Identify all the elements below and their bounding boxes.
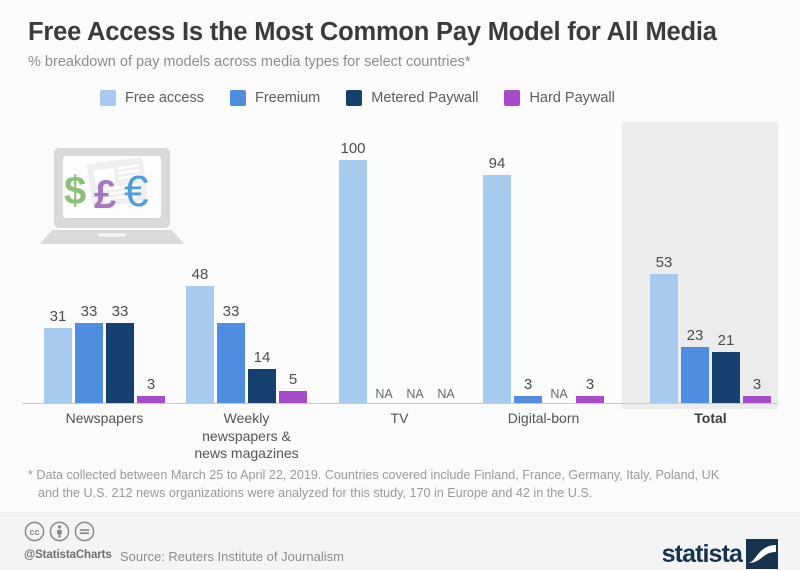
page-subtitle: % breakdown of pay models across media t… (28, 54, 780, 71)
category-label-line: Total (621, 410, 800, 428)
bar-slot[interactable]: 33 (106, 118, 134, 403)
footnote-line-2: and the U.S. 212 news organizations were… (28, 484, 773, 502)
bar-value-label: 5 (263, 372, 323, 387)
creative-commons-icon: cc (24, 521, 45, 547)
bar-rect[interactable] (75, 323, 103, 403)
bar-value-label: 3 (560, 377, 620, 392)
category-label-line: Digital-born (454, 410, 634, 428)
bar-rect[interactable] (576, 396, 604, 403)
bar-value-na: NA (416, 388, 476, 401)
x-axis-category-label: Digital-born (454, 410, 634, 428)
legend-item-0[interactable]: Free access (100, 90, 204, 106)
bar-rect[interactable] (483, 175, 511, 403)
bar-group-bars: 3133333 (44, 118, 165, 403)
page-title: Free Access Is the Most Common Pay Model… (28, 18, 780, 47)
bar-group-bars: 943NA3 (483, 118, 604, 403)
bar-slot[interactable]: 5 (279, 118, 307, 403)
no-derivatives-icon (74, 521, 95, 547)
bar-group-4: 5323213Total (650, 118, 771, 403)
bar-slot[interactable]: 21 (712, 118, 740, 403)
bar-slot[interactable]: NA (370, 118, 398, 403)
chart-legend: Free accessFreemiumMetered PaywallHard P… (100, 90, 615, 106)
chart-plot-area: $ £ € 3133333Newspapers4833145Weeklynews… (0, 118, 800, 458)
legend-swatch-icon (504, 90, 520, 106)
bar-slot[interactable]: 23 (681, 118, 709, 403)
bar-rect[interactable] (681, 347, 709, 403)
statista-logo-text: statista (662, 542, 742, 567)
statista-logo-mark (746, 539, 778, 569)
bar-group-bars: 5323213 (650, 118, 771, 403)
legend-item-label: Free access (125, 90, 204, 106)
bar-group-bars: 100NANANA (339, 118, 460, 403)
legend-item-label: Freemium (255, 90, 320, 106)
bar-value-label: 3 (727, 377, 787, 392)
statista-infographic: Free Access Is the Most Common Pay Model… (0, 0, 800, 570)
bar-group-2: 100NANANATV (339, 118, 460, 403)
bar-slot[interactable]: 3 (514, 118, 542, 403)
bar-slot[interactable]: NA (401, 118, 429, 403)
legend-swatch-icon (346, 90, 362, 106)
attribution-icon (49, 521, 70, 547)
category-label-line: newspapers & (157, 428, 337, 446)
bar-slot[interactable]: 33 (75, 118, 103, 403)
footnote-line-1: * Data collected between March 25 to Apr… (28, 468, 719, 482)
x-axis-baseline (22, 403, 778, 404)
source-text: Source: Reuters Institute of Journalism (120, 549, 344, 564)
category-label-line: news magazines (157, 445, 337, 463)
bar-group-1: 4833145Weeklynewspapers &news magazines (186, 118, 307, 403)
bar-slot[interactable]: 31 (44, 118, 72, 403)
bar-slot[interactable]: NA (432, 118, 460, 403)
legend-item-label: Metered Paywall (371, 90, 478, 106)
svg-text:cc: cc (29, 527, 39, 537)
bar-slot[interactable]: 3 (137, 118, 165, 403)
statista-handle: @StatistaCharts (24, 549, 112, 561)
bar-value-label: 3 (121, 377, 181, 392)
bar-rect[interactable] (137, 396, 165, 403)
bar-rect[interactable] (339, 160, 367, 403)
legend-item-2[interactable]: Metered Paywall (346, 90, 478, 106)
bar-rect[interactable] (279, 391, 307, 403)
legend-item-1[interactable]: Freemium (230, 90, 320, 106)
statista-logo: statista (662, 539, 778, 569)
bar-rect[interactable] (743, 396, 771, 403)
bar-slot[interactable]: 3 (743, 118, 771, 403)
legend-item-3[interactable]: Hard Paywall (504, 90, 614, 106)
bar-slot[interactable]: 94 (483, 118, 511, 403)
bar-rect[interactable] (44, 328, 72, 403)
footnote: * Data collected between March 25 to Apr… (28, 466, 773, 503)
bar-slot[interactable]: 48 (186, 118, 214, 403)
bar-slot[interactable]: 14 (248, 118, 276, 403)
x-axis-category-label: Total (621, 410, 800, 428)
bar-group-3: 943NA3Digital-born (483, 118, 604, 403)
bar-group-bars: 4833145 (186, 118, 307, 403)
bar-slot[interactable]: NA (545, 118, 573, 403)
legend-item-label: Hard Paywall (529, 90, 614, 106)
bar-slot[interactable]: 53 (650, 118, 678, 403)
legend-swatch-icon (230, 90, 246, 106)
bar-slot[interactable]: 3 (576, 118, 604, 403)
creative-commons-license-icons: cc (24, 521, 95, 547)
header: Free Access Is the Most Common Pay Model… (28, 18, 780, 71)
footer: cc @StatistaCharts Source: Reuters Insti (0, 513, 800, 570)
bar-slot[interactable]: 100 (339, 118, 367, 403)
legend-swatch-icon (100, 90, 116, 106)
bar-group-0: 3133333Newspapers (44, 118, 165, 403)
